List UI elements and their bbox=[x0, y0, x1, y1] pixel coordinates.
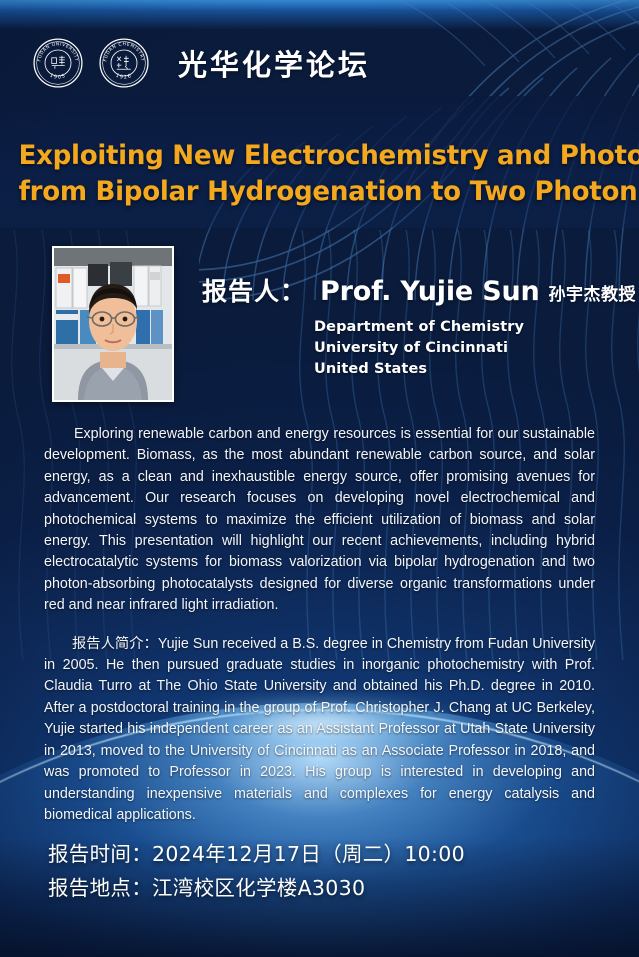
speaker-label: 报告人： bbox=[202, 272, 306, 308]
svg-text:1905: 1905 bbox=[49, 73, 68, 81]
speaker-name-row: 报告人： Prof. Yujie Sun 孙宇杰教授 bbox=[202, 272, 639, 308]
talk-title: Exploiting New Electrochemistry and Phot… bbox=[0, 138, 639, 210]
poster-header: FUDAN UNIVERSITY 1905 bbox=[0, 28, 639, 98]
speaker-affiliation: Department of Chemistry University of Ci… bbox=[314, 317, 639, 380]
speaker-photo bbox=[52, 246, 174, 402]
affiliation-line-1: Department of Chemistry bbox=[314, 317, 639, 338]
svg-text:1926: 1926 bbox=[115, 73, 134, 81]
fudan-chemistry-seal-icon: FUDAN CHEMISTRY 1926 bbox=[98, 37, 150, 89]
fudan-university-seal-icon: FUDAN UNIVERSITY 1905 bbox=[32, 37, 84, 89]
forum-title: 光华化学论坛 bbox=[178, 42, 370, 84]
talk-title-line-1: Exploiting New Electrochemistry and Phot… bbox=[19, 138, 621, 174]
talk-title-line-2: from Bipolar Hydrogenation to Two Photon… bbox=[19, 174, 621, 210]
event-details: 报告时间：2024年12月17日（周二）10:00 报告地点：江湾校区化学楼A3… bbox=[48, 837, 465, 905]
affiliation-line-3: United States bbox=[314, 359, 639, 380]
biography-paragraph: 报告人简介：Yujie Sun received a B.S. degree i… bbox=[44, 634, 595, 827]
speaker-section: 报告人： Prof. Yujie Sun 孙宇杰教授 Department of… bbox=[0, 246, 639, 402]
speaker-name-cn: 孙宇杰教授 bbox=[549, 280, 637, 305]
abstract-paragraph: Exploring renewable carbon and energy re… bbox=[44, 424, 595, 617]
event-location: 报告地点：江湾校区化学楼A3030 bbox=[48, 871, 465, 905]
speaker-details: 报告人： Prof. Yujie Sun 孙宇杰教授 Department of… bbox=[202, 246, 639, 380]
poster-root: FUDAN UNIVERSITY 1905 bbox=[0, 0, 639, 957]
poster-body: Exploring renewable carbon and energy re… bbox=[44, 424, 595, 826]
event-time: 报告时间：2024年12月17日（周二）10:00 bbox=[48, 837, 465, 871]
speaker-name-en: Prof. Yujie Sun bbox=[320, 276, 540, 307]
affiliation-line-2: University of Cincinnati bbox=[314, 338, 639, 359]
